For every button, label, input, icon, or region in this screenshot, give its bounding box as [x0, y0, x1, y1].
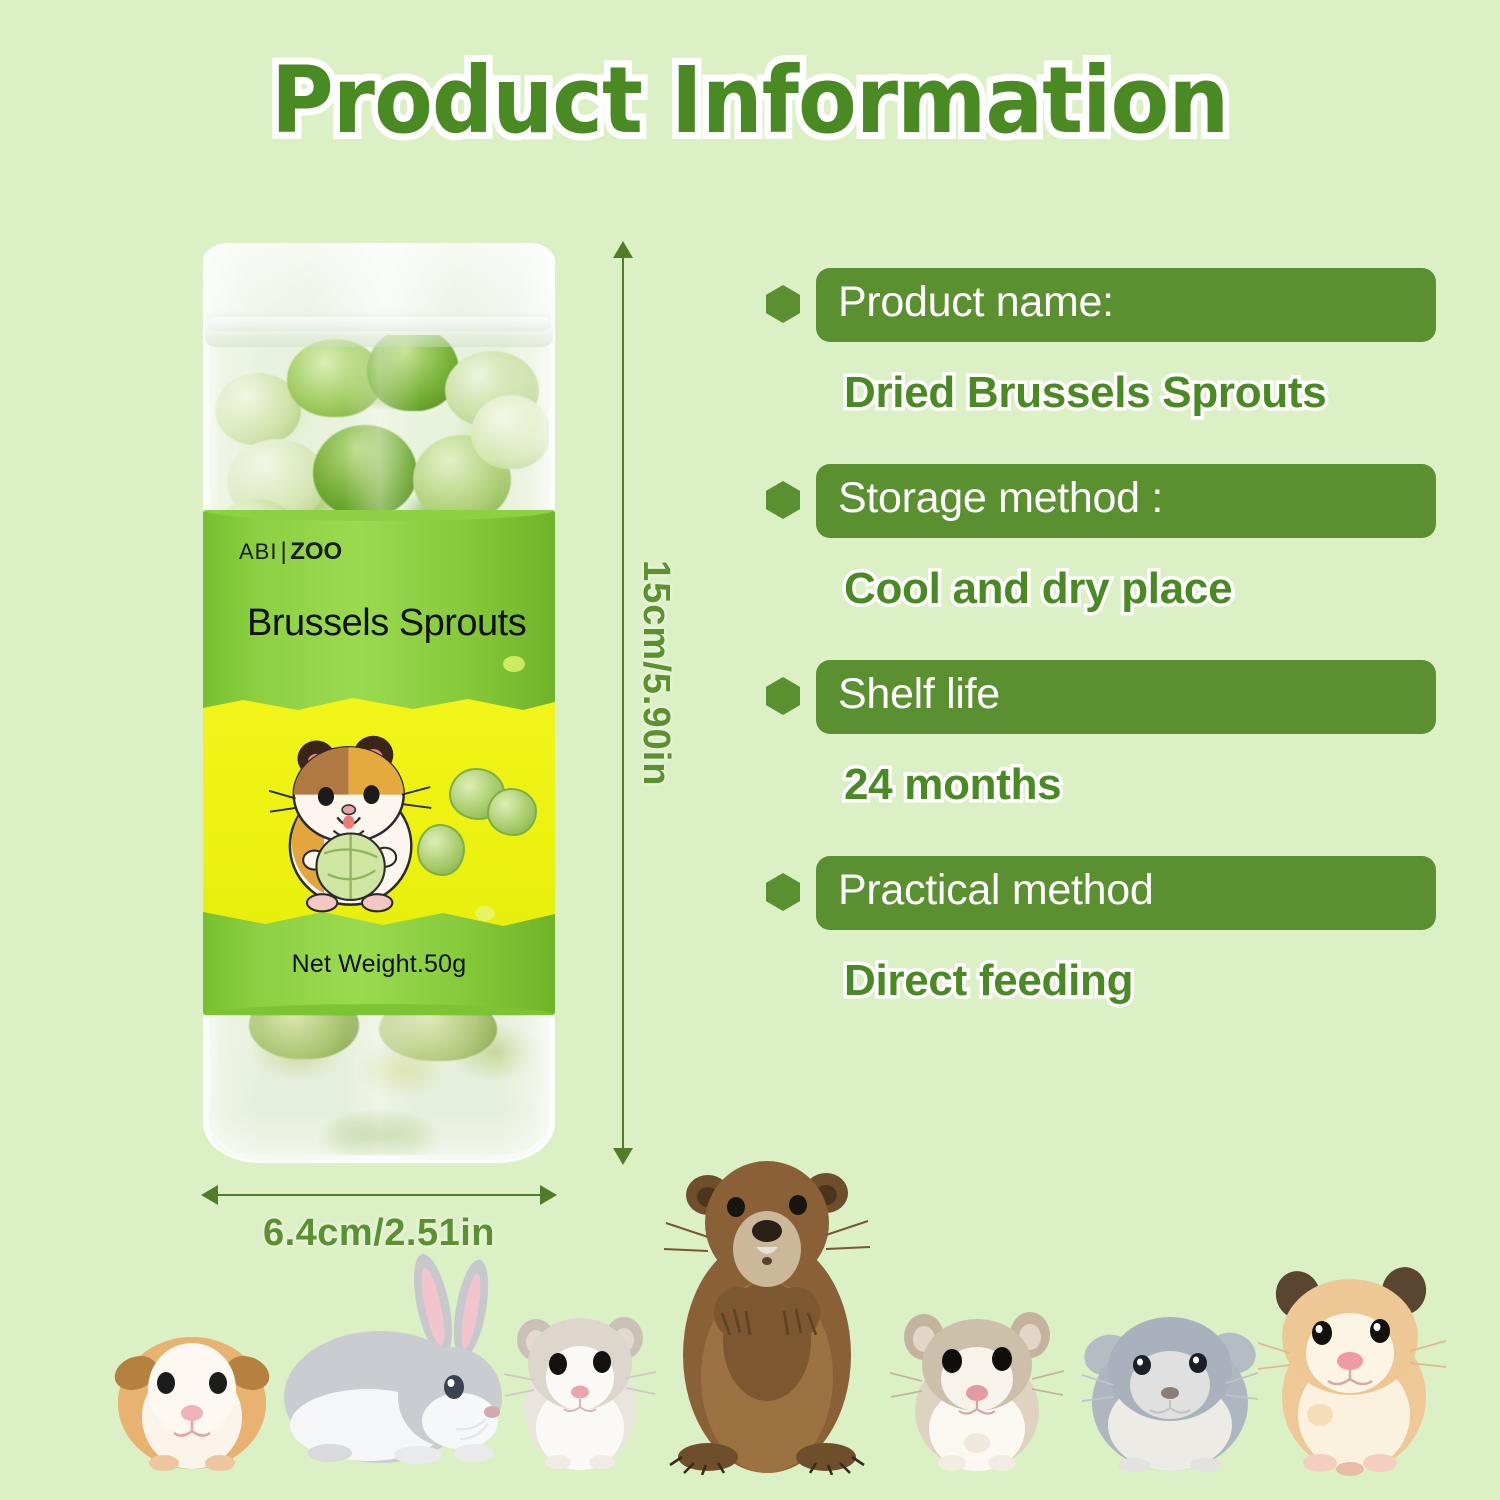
product-label: ABI | ZOO Brussels Sprouts	[203, 510, 555, 1015]
info-row-shelf-life: Shelf life 24 months	[766, 660, 1436, 810]
animal-guinea-pig	[92, 1285, 292, 1480]
info-value: Dried Brussels Sprouts	[844, 368, 1436, 418]
title-container: Product Information	[0, 48, 1500, 154]
label-top-curve	[203, 510, 555, 521]
sprout-decoration	[487, 788, 537, 836]
label-dot	[475, 906, 495, 921]
label-product-name: Brussels Sprouts	[247, 602, 526, 645]
animal-groundhog	[660, 1145, 875, 1480]
label-dot	[503, 656, 525, 672]
animal-hamster-golden	[1258, 1257, 1448, 1482]
info-value: Direct feeding	[844, 956, 1436, 1006]
brand-prefix: ABI	[239, 539, 277, 565]
info-value: 24 months	[844, 760, 1436, 810]
animal-chinchilla	[1080, 1293, 1260, 1478]
animal-gerbil-sandy	[890, 1293, 1065, 1478]
info-value: Cool and dry place	[844, 564, 1436, 614]
sprout-decoration	[417, 824, 465, 876]
hexagon-bullet-icon	[766, 285, 800, 323]
hamster-mascot-icon	[267, 732, 457, 917]
arrow-up-icon	[613, 241, 633, 258]
height-dimension-line	[622, 243, 624, 1163]
info-label: Shelf life	[816, 660, 1436, 734]
page-title: Product Information	[271, 48, 1228, 154]
info-row-product-name: Product name: Dried Brussels Sprouts	[766, 268, 1436, 418]
height-dimension-label: 15cm/5.90in	[634, 560, 677, 786]
jar-bottom-shade	[213, 1109, 545, 1163]
info-label: Product name:	[816, 268, 1436, 342]
brand-suffix: ZOO	[290, 538, 342, 566]
product-jar: ABI | ZOO Brussels Sprouts	[203, 243, 555, 1163]
hexagon-bullet-icon	[766, 677, 800, 715]
hexagon-bullet-icon	[766, 481, 800, 519]
label-net-weight: Net Weight.50g	[203, 950, 555, 979]
product-info-list: Product name: Dried Brussels Sprouts Sto…	[766, 268, 1436, 1052]
info-row-storage-method: Storage method : Cool and dry place	[766, 464, 1436, 614]
info-row-practical-method: Practical method Direct feeding	[766, 856, 1436, 1006]
info-label: Practical method	[816, 856, 1436, 930]
arrow-down-icon	[613, 1148, 633, 1165]
brand-logo: ABI | ZOO	[239, 538, 342, 566]
jar-lid-rim	[205, 317, 553, 347]
label-bottom-curve	[203, 1004, 555, 1015]
info-label: Storage method :	[816, 464, 1436, 538]
hexagon-bullet-icon	[766, 873, 800, 911]
animal-rabbit	[268, 1247, 518, 1482]
target-animals-row	[0, 1170, 1500, 1500]
brand-divider: |	[280, 538, 287, 566]
animal-gerbil-white	[500, 1288, 660, 1478]
